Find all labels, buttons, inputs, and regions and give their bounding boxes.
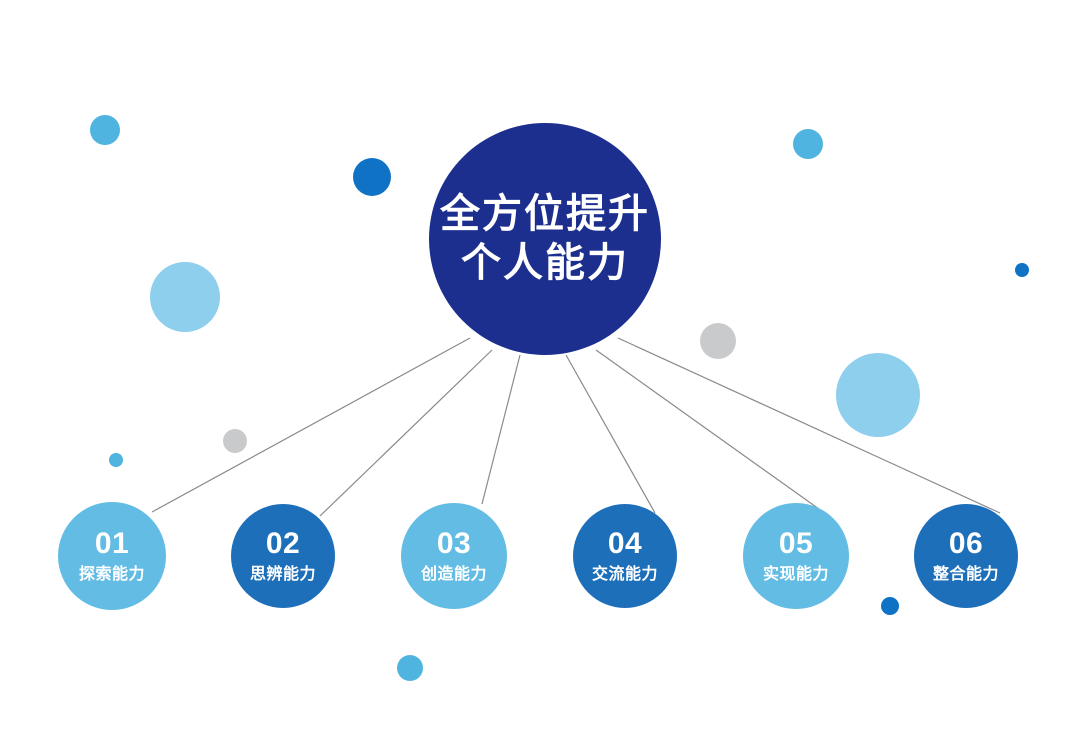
circle-left-gray — [223, 429, 247, 453]
node-circle-01[interactable]: 01探索能力 — [58, 502, 166, 610]
connector-line-5 — [596, 350, 826, 514]
connector-line-2 — [320, 350, 492, 516]
infographic-canvas: 全方位提升 个人能力 01探索能力02思辨能力03创造能力04交流能力05实现能… — [0, 0, 1080, 732]
dot-left-tiny — [109, 453, 123, 467]
node-label-06: 整合能力 — [933, 566, 999, 584]
hub-circle[interactable]: 全方位提升 个人能力 — [429, 123, 661, 355]
dot-bottom-right-dark — [881, 597, 899, 615]
dot-top-left-small — [90, 115, 120, 145]
dot-top-left-dark — [353, 158, 391, 196]
node-number-02: 02 — [266, 529, 300, 559]
node-number-04: 04 — [608, 529, 642, 559]
node-circle-06[interactable]: 06整合能力 — [914, 504, 1018, 608]
node-label-05: 实现能力 — [763, 566, 829, 584]
hub-title-line-1: 全方位提升 — [440, 190, 650, 239]
circle-right-pale — [836, 353, 920, 437]
connector-line-6 — [618, 338, 1000, 513]
dot-right-tiny-dark — [1015, 263, 1029, 277]
dot-bottom-left — [397, 655, 423, 681]
node-circle-03[interactable]: 03创造能力 — [401, 503, 507, 609]
hub-title-line-2: 个人能力 — [461, 239, 629, 288]
connector-line-3 — [482, 355, 520, 504]
circle-right-gray — [700, 323, 736, 359]
node-number-05: 05 — [779, 529, 813, 559]
connector-lines — [0, 0, 1080, 732]
node-number-01: 01 — [95, 529, 129, 559]
connector-line-4 — [566, 355, 655, 513]
node-label-01: 探索能力 — [79, 566, 145, 584]
node-number-06: 06 — [949, 529, 983, 559]
node-circle-04[interactable]: 04交流能力 — [573, 504, 677, 608]
node-circle-02[interactable]: 02思辨能力 — [231, 504, 335, 608]
dot-top-right — [793, 129, 823, 159]
node-label-03: 创造能力 — [421, 566, 487, 584]
circle-left-pale — [150, 262, 220, 332]
node-circle-05[interactable]: 05实现能力 — [743, 503, 849, 609]
connector-line-1 — [152, 338, 470, 512]
node-label-02: 思辨能力 — [250, 566, 316, 584]
node-label-04: 交流能力 — [592, 566, 658, 584]
node-number-03: 03 — [437, 529, 471, 559]
